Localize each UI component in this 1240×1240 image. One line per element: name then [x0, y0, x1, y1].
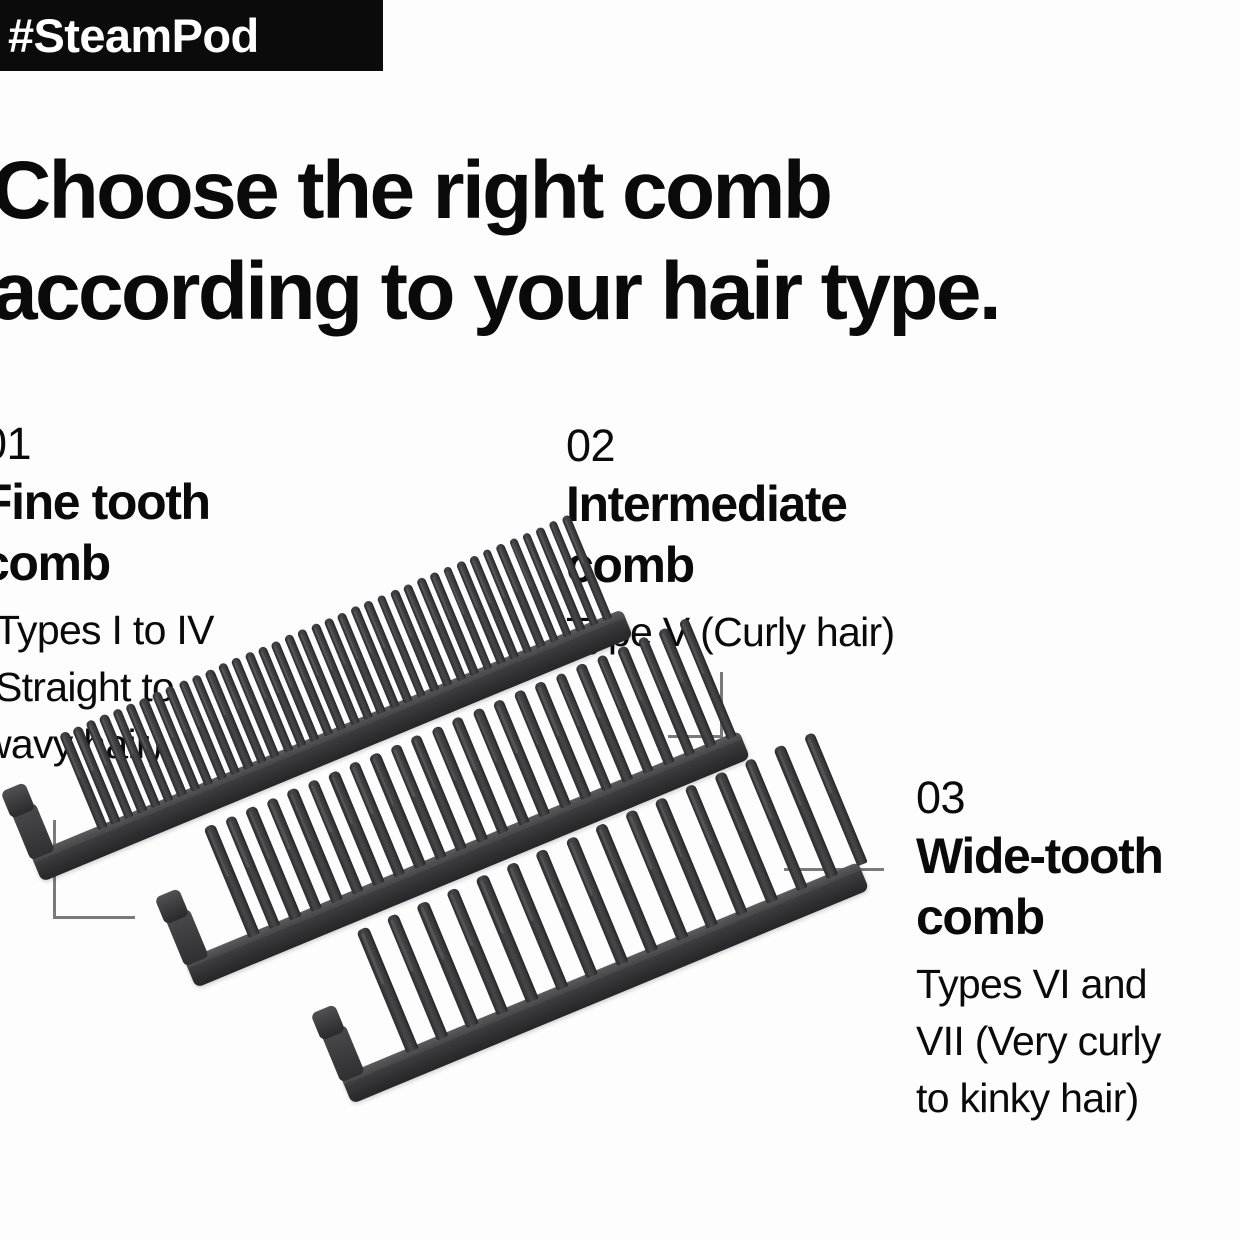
comb-product-illustration	[0, 0, 1240, 1240]
infographic-page: #SteamPod Choose the right comb accordin…	[0, 0, 1240, 1240]
comb-tooth	[773, 745, 838, 879]
